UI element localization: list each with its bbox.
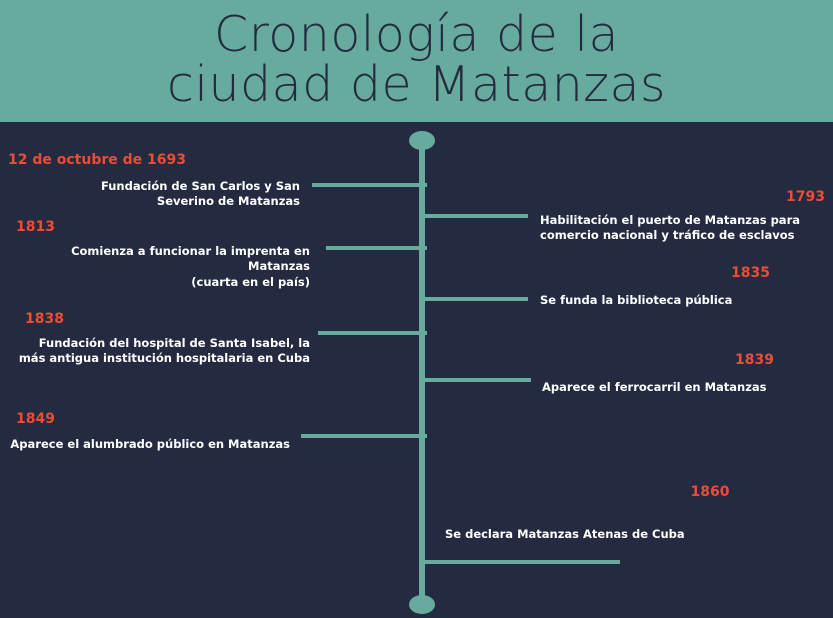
event-description-1793: Habilitación el puerto de Matanzas para … [540,213,825,244]
connector-line-1849 [301,434,427,438]
event-date-1813: 1813 [8,219,310,236]
timeline-event-1839: 1839 Aparece el ferrocarril en Matanzas [542,352,774,395]
event-date-1849: 1849 [8,411,290,428]
connector-line-1860 [420,560,620,564]
event-description-1849: Aparece el alumbrado público en Matanzas [8,437,290,453]
event-date-1835: 1835 [540,265,770,282]
connector-line-1793 [420,214,528,218]
timeline-infographic: Cronología de la ciudad de Matanzas 12 d… [0,0,833,618]
event-date-1793: 1793 [540,189,825,206]
event-description-1860: Se declara Matanzas Atenas de Cuba [445,527,735,543]
event-description-1835: Se funda la biblioteca pública [540,293,770,309]
connector-line-1839 [420,378,531,382]
timeline-bottom-node-icon [409,595,435,614]
timeline-event-1835: 1835 Se funda la biblioteca pública [540,265,770,308]
timeline-event-1793: 1793 Habilitación el puerto de Matanzas … [540,189,825,244]
timeline-event-1849: 1849 Aparece el alumbrado público en Mat… [8,411,290,452]
connector-line-1693 [312,183,427,187]
event-date-1693: 12 de octubre de 1693 [8,152,300,169]
event-date-1860: 1860 [445,484,735,501]
event-date-1839: 1839 [542,352,774,369]
timeline-event-1860: 1860 Se declara Matanzas Atenas de Cuba [445,484,735,542]
timeline-top-node-icon [409,131,435,150]
header-band: Cronología de la ciudad de Matanzas [0,0,833,122]
timeline-spine [419,140,425,606]
event-description-1839: Aparece el ferrocarril en Matanzas [542,380,774,396]
connector-line-1835 [420,297,528,301]
timeline-event-1813: 1813 Comienza a funcionar la imprenta en… [8,219,310,290]
timeline-event-1838: 1838 Fundación del hospital de Santa Isa… [8,311,310,367]
event-description-1693: Fundación de San Carlos y San Severino d… [8,179,300,210]
event-date-1838: 1838 [8,311,310,328]
connector-line-1838 [318,331,427,335]
timeline-event-1693: 12 de octubre de 1693 Fundación de San C… [8,152,300,210]
event-description-1813: Comienza a funcionar la imprenta en Mata… [8,244,310,291]
page-title: Cronología de la ciudad de Matanzas [167,10,666,112]
event-description-1838: Fundación del hospital de Santa Isabel, … [8,336,310,367]
connector-line-1813 [326,246,427,250]
